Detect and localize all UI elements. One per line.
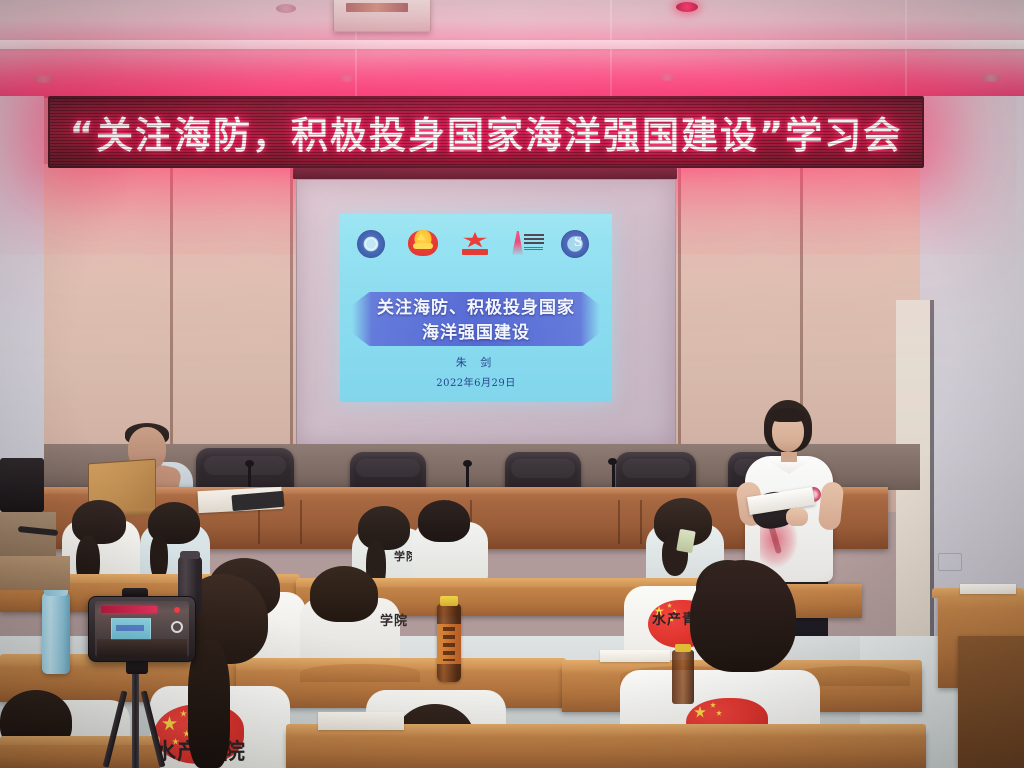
slide-logo-row [340,228,612,262]
tea-bottle-cap [675,644,691,652]
desk-paper [318,712,404,730]
equipment-cabinet [0,512,56,562]
ceiling-projector [333,0,431,32]
shirt-print-text: 学院 [380,610,408,629]
standing-speaker-woman-bangs [770,408,806,422]
bench-notch [300,664,420,682]
tea-bottle [672,650,694,704]
student-row3-right-hair [418,500,470,542]
university-seal-logo [357,230,391,260]
ceiling-downlight [982,74,1000,82]
ceiling-downlight [34,75,53,83]
slide-title-line-2: 海洋强国建设 [356,321,596,346]
head-table-panel [470,500,620,544]
beacon-project-logo [510,230,544,260]
equipment-shelf [0,556,70,590]
bench-desk-row1b [286,730,926,768]
ceiling-light-cove [0,40,1024,49]
tripod-head[interactable] [126,660,148,674]
led-banner-text: “关注海防，积极投身国家海洋强国建设”学习会 [50,105,922,159]
slide-date: 2022年6月29日 [340,374,612,389]
student-row3-center-hair [358,506,410,550]
recording-indicator-dot [174,607,180,613]
student-row3-left-hair [72,500,126,544]
standing-speaker-woman-hand [786,508,808,526]
blue-thermos-bottle [42,592,70,674]
tea-bottle-label [437,624,461,664]
wall-socket [938,553,962,571]
ceiling-downlight [276,4,296,13]
led-banner: “关注海防，积极投身国家海洋强国建设”学习会 [48,96,924,168]
student-row1-right-hair [690,560,796,672]
slide-title-line-1: 关注海防、积极投身国家 [356,296,596,321]
student-ponytail [188,640,230,768]
phone-screen[interactable] [95,601,189,657]
blue-s-circle-logo [561,230,595,260]
ceiling-downlight [340,75,354,82]
student-row2-center-hair [310,566,378,622]
right-wall [920,96,1024,656]
qingma-project-star-logo [459,230,493,260]
phone-preview-projection-screen [111,618,151,640]
tripod-pole[interactable] [132,672,139,768]
side-bench-desk-leg [958,636,1024,768]
microphone-head [608,458,617,465]
microphone-head [245,460,254,467]
microphone-head [463,460,472,467]
wall-corner-edge [930,300,934,660]
projector-lens [346,3,408,12]
ceiling-seam [905,0,907,98]
tea-bottle-cap [440,596,458,606]
phone-preview-audience [97,639,187,657]
desk-paper [600,650,670,662]
ceiling-downlight [660,74,674,81]
desk-paper [960,584,1016,594]
phone-preview-led-banner [101,606,157,613]
equipment-monitor [0,458,44,512]
ceiling [0,0,1024,98]
screen-valance [293,168,677,179]
ceiling-downlight [676,2,698,12]
slide-presenter-name: 朱 剑 [340,354,612,370]
conference-room-photo: “关注海防，积极投身国家海洋强国建设”学习会 关注海防、积极投身国家 海洋强国建… [0,0,1024,768]
presentation-slide: 关注海防、积极投身国家 海洋强国建设 朱 剑 2022年6月29日 [340,214,612,402]
communist-youth-league-logo [408,230,442,260]
slide-title: 关注海防、积极投身国家 海洋强国建设 [356,296,596,345]
record-button[interactable] [171,621,183,633]
ceiling-seam [610,0,612,98]
